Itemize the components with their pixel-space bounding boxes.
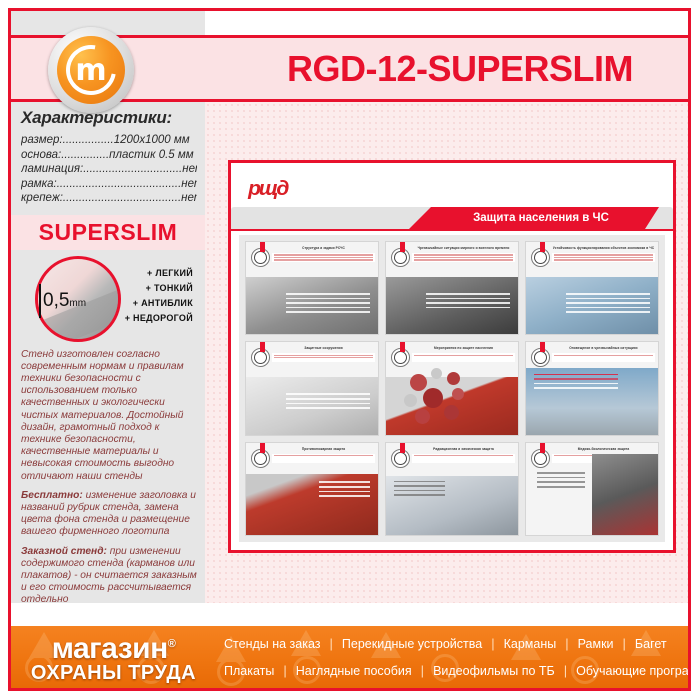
poster-item[interactable]: Радиационная и химическая защита [385,442,519,536]
poster-title: Защитные сооружения [272,346,375,350]
nav-link-visual-aids[interactable]: Наглядные пособия [296,664,412,678]
spec-row-base: основа:...............пластик 0.5 мм [21,148,197,163]
footer-nav-row-2: Плакаты | Наглядные пособия | Видеофильм… [224,657,688,684]
poster-item[interactable]: Защитные сооружения [245,341,379,435]
poster-item[interactable]: Структура и задачи РСЧС [245,241,379,335]
nav-link-flip-displays[interactable]: Перекидные устройства [342,637,482,651]
footer-nav-row-1: Стенды на заказ | Перекидные устройства … [224,630,688,657]
poster-title: Радиационная и химическая защита [412,447,515,451]
poster-photo [386,277,518,334]
pin-icon [260,241,265,252]
stand-title-tab: Защита населения в ЧС [409,207,659,229]
page-title: RGD-12-SUPERSLIM [240,40,680,98]
nav-separator: | [623,636,626,651]
nav-link-frames[interactable]: Рамки [578,637,614,651]
poster-photo [246,377,378,434]
shop-logo[interactable]: магазин® ОХРАНЫ ТРУДА [11,626,216,688]
footer-bar: магазин® ОХРАНЫ ТРУДА Стенды на заказ | … [11,626,688,688]
pin-icon [540,442,545,453]
poster-title: Устойчивость функционирования объектов э… [552,246,655,250]
bullet-cheap: + НЕДОРОГОЙ [125,311,193,326]
spec-row-mount: крепеж:.................................… [21,191,197,206]
nav-separator: | [330,636,333,651]
bullet-light: + ЛЕГКИЙ [125,266,193,281]
m-circle-logo-icon: m [48,27,134,113]
pin-icon [400,341,405,352]
nav-link-custom-stands[interactable]: Стенды на заказ [224,637,321,651]
poster-photo [246,277,378,334]
nav-link-baguette[interactable]: Багет [635,637,667,651]
poster-photo [526,277,658,334]
paragraph-custom: Заказной стенд: при изменении содержимог… [21,546,197,603]
pin-icon [260,341,265,352]
feature-bullets: + ЛЕГКИЙ + ТОНКИЙ + АНТИБЛИК + НЕДОРОГОЙ [125,266,193,326]
bullet-antiglare: + АНТИБЛИК [125,296,193,311]
poster-item[interactable]: Мероприятия по защите населения [385,341,519,435]
nav-separator: | [565,636,568,651]
poster-title: Противопожарная защита [272,447,375,451]
superslim-banner: SUPERSLIM [11,215,205,250]
poster-item[interactable]: Чрезвычайные ситуации мирного и военного… [385,241,519,335]
nav-separator: | [283,663,286,678]
pin-icon [400,241,405,252]
measure-bar [39,284,41,318]
specs-sidebar: Характеристики: размер:................1… [11,102,205,603]
nav-link-videos[interactable]: Видеофильмы по ТБ [433,664,555,678]
paragraph-free: Бесплатно: изменение заголовка и названи… [21,490,197,539]
specs-heading: Характеристики: [21,108,197,128]
poster-title: Чрезвычайные ситуации мирного и военного… [412,246,515,250]
stand-preview[interactable]: рщд Защита населения в ЧС Структура и за… [228,160,676,553]
sidebar-description: Стенд изготовлен согласно современным но… [21,349,197,604]
poster-title: Медико-биологическая защита [552,447,655,451]
registered-icon: ® [168,638,176,650]
stand-title: Защита населения в ЧС [473,212,609,224]
nav-separator: | [491,636,494,651]
nav-separator: | [421,663,424,678]
pin-icon [260,442,265,453]
thickness-value: 0,5mm [43,290,86,312]
top-white-strip [205,11,688,35]
pin-icon [540,241,545,252]
pin-icon [400,442,405,453]
poster-title: Оповещение в чрезвычайных ситуациях [552,346,655,350]
shop-logo-line2: ОХРАНЫ ТРУДА [31,663,196,684]
superslim-label: SUPERSLIM [39,219,178,246]
poster-item[interactable]: Противопожарная защита [245,442,379,536]
spec-row-size: размер:................1200х1000 мм [21,133,197,148]
poster-item[interactable]: Устойчивость функционирования объектов э… [525,241,659,335]
spec-row-frame: рамка:..................................… [21,177,197,192]
pin-icon [540,341,545,352]
poster-photo [592,454,658,535]
spec-row-lamination: ламинация:..............................… [21,162,197,177]
nav-separator: | [564,663,567,678]
poster-item[interactable]: Оповещение в чрезвычайных ситуациях [525,341,659,435]
poster-photo [526,368,658,434]
nav-link-posters[interactable]: Плакаты [224,664,274,678]
poster-photo [246,474,378,535]
poster-title: Структура и задачи РСЧС [272,246,375,250]
stand-title-bar: Защита населения в ЧС [231,207,673,229]
thickness-diagram: 0,5mm + ЛЕГКИЙ + ТОНКИЙ + АНТИБЛИК + НЕД… [21,252,197,345]
bullet-thin: + ТОНКИЙ [125,281,193,296]
rzd-logo-icon: рщд [248,178,287,201]
paragraph-manufacture: Стенд изготовлен согласно современным но… [21,349,197,483]
poster-product-page: RGD-12-SUPERSLIM m Характеристики: разме… [0,0,699,699]
nav-link-training-programs[interactable]: Обучающие программы [576,664,688,678]
footer-nav: Стенды на заказ | Перекидные устройства … [216,626,688,688]
poster-item[interactable]: Медико-биологическая защита [525,442,659,536]
poster-grid: Структура и задачи РСЧС Чрезвычайные сит… [239,235,665,542]
shop-logo-line1: магазин [52,632,168,665]
nav-link-pockets[interactable]: Карманы [504,637,557,651]
poster-photo [386,476,518,535]
